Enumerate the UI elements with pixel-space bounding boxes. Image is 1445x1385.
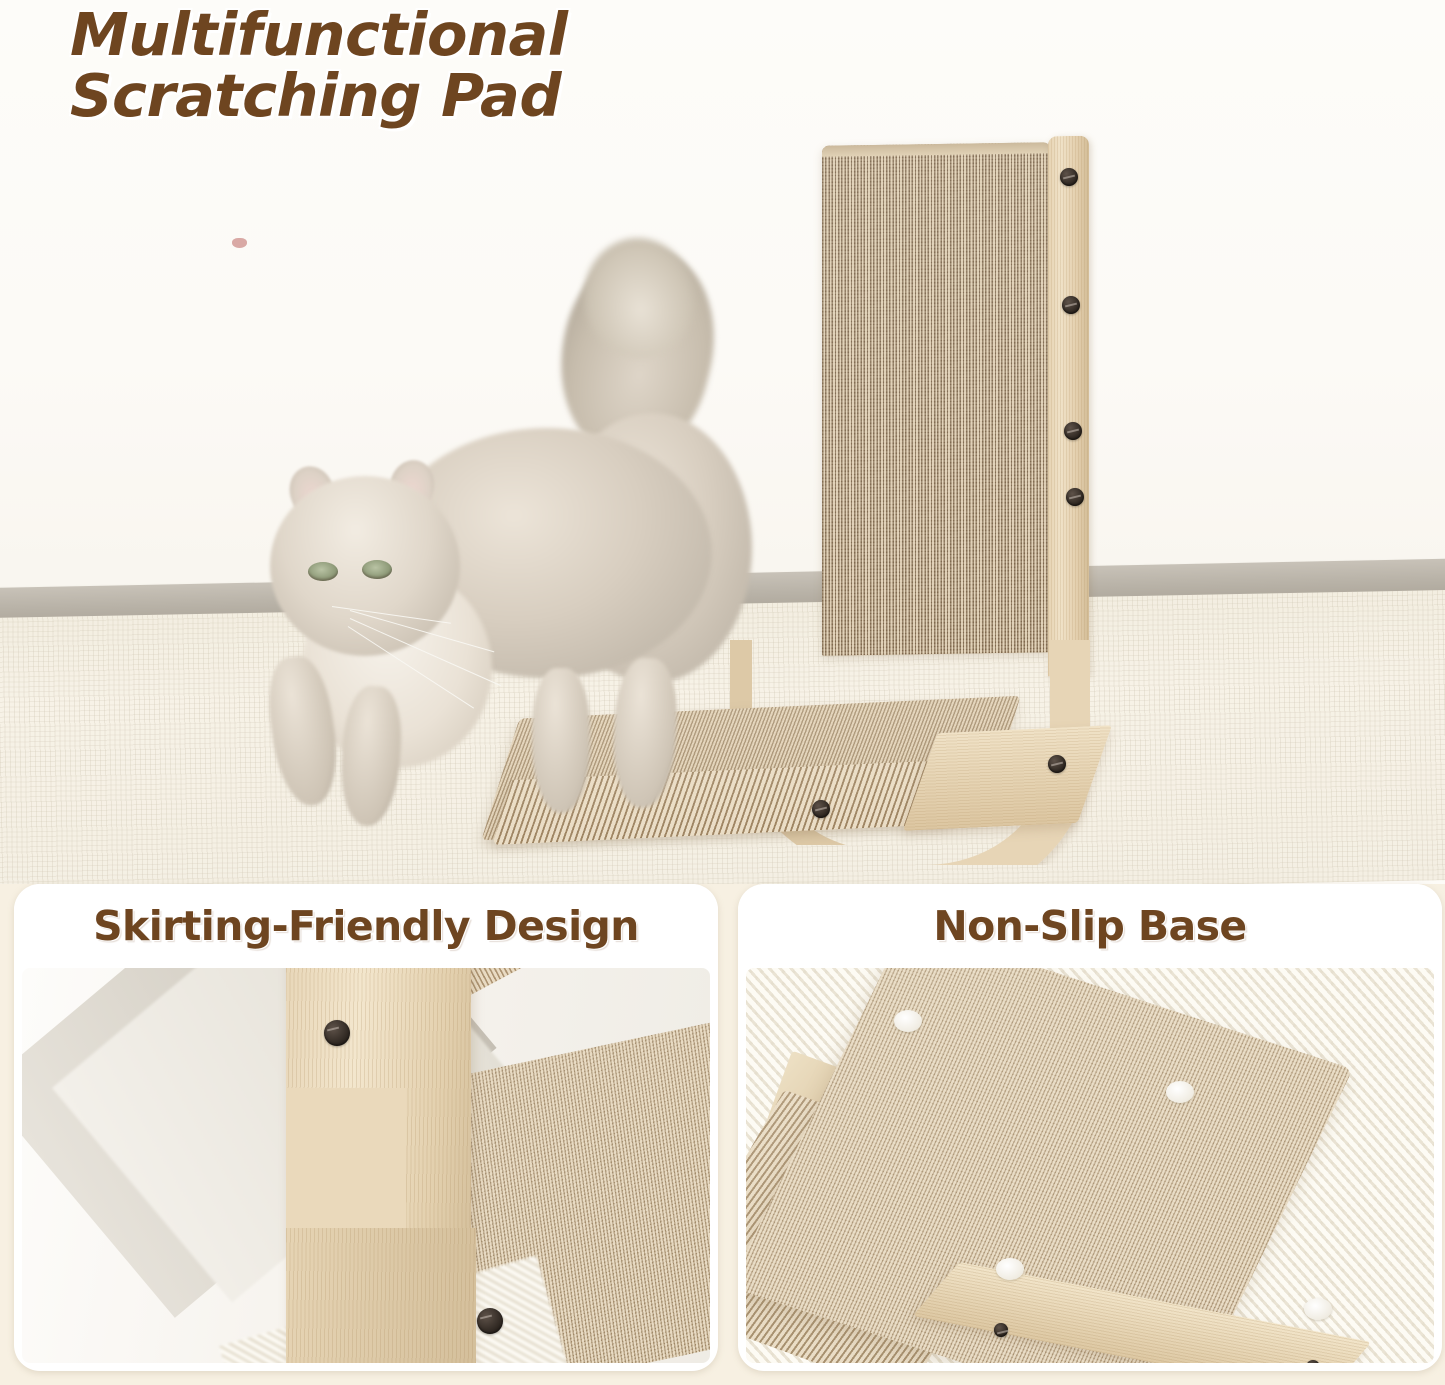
screw-icon [1066,488,1084,506]
corrugated-cardboard-texture [822,142,1050,656]
screw-icon [1064,422,1082,440]
panel-header: Skirting-Friendly Design [14,884,718,968]
panel-photo-non-slip-base [746,968,1434,1363]
screw-icon [812,800,830,818]
screw-icon [994,1323,1008,1337]
screw-icon [1062,296,1080,314]
cat-nose [232,238,247,248]
detail-wood-lower [286,1228,476,1363]
cat-photo-subject [232,238,752,828]
hero-product-photo: Multifunctional Scratching Pad [0,0,1445,884]
non-slip-pad-icon [1304,1298,1332,1320]
panel-title-non-slip-base: Non-Slip Base [933,902,1246,950]
cat-back-leg-right [610,656,680,809]
screw-icon [1060,168,1078,186]
feature-panel-skirting-friendly: Skirting-Friendly Design [14,884,718,1371]
page-title: Multifunctional Scratching Pad [70,4,770,127]
cat-back-leg-left [532,668,590,813]
vertical-wood-rail [1048,136,1089,677]
screw-icon [1048,755,1066,773]
non-slip-pad-icon [1166,1081,1194,1103]
panel-header: Non-Slip Base [738,884,1442,968]
cat-eye-left [308,562,338,581]
cat-eye-right [362,560,392,579]
non-slip-pad-icon [894,1010,922,1032]
screw-icon [477,1308,503,1334]
panel-title-skirting-friendly: Skirting-Friendly Design [93,902,639,950]
feature-panels: Skirting-Friendly Design Non-Slip Base [0,884,1445,1385]
product-marketing-page: Multifunctional Scratching Pad Skirting-… [0,0,1445,1385]
vertical-scratching-panel [822,142,1050,656]
screw-icon [324,1020,350,1046]
panel-photo-skirting-friendly [22,968,710,1363]
feature-panel-non-slip-base: Non-Slip Base [738,884,1442,1371]
non-slip-pad-icon [996,1258,1024,1280]
